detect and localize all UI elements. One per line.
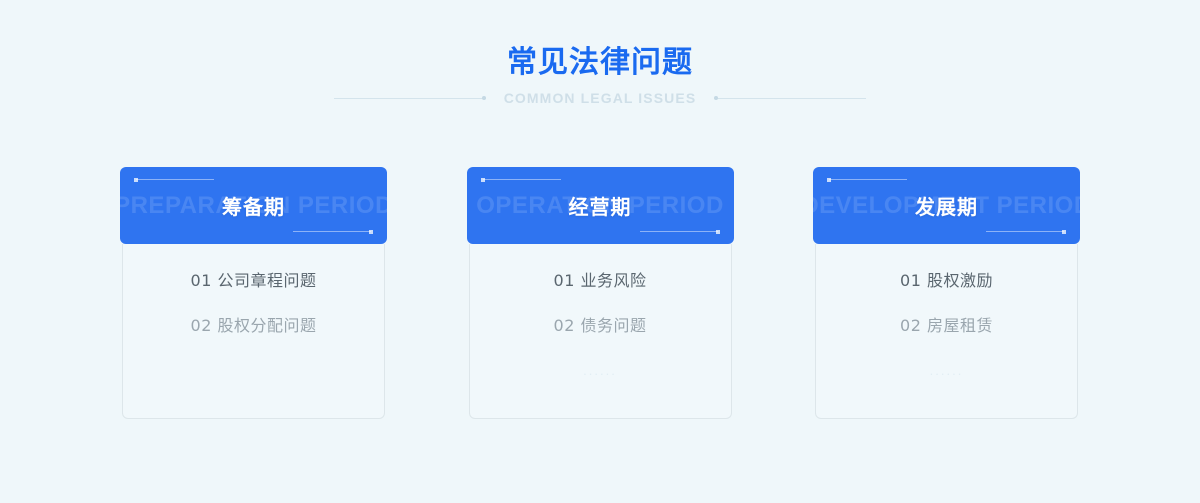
list-item[interactable]: 02 股权分配问题 [123,315,384,337]
card-list: PREPARATION PERIOD 筹备期 01 公司章程问题 02 股权分配… [120,167,1080,419]
card-title: 经营期 [467,167,734,244]
decorative-rule-left [334,94,486,103]
section-heading: 常见法律问题 COMMON LEGAL ISSUES [0,42,1200,107]
card-body: 01 公司章程问题 02 股权分配问题 [122,244,385,419]
rule-dot-right-icon [714,96,718,100]
card-body: 01 股权激励 02 房屋租赁 ...... [815,244,1078,419]
list-item[interactable]: 01 股权激励 [816,270,1077,292]
subtitle-row: COMMON LEGAL ISSUES [0,89,1200,107]
list-item-more: ...... [816,363,1077,379]
list-item-more: ...... [470,363,731,379]
card-title: 筹备期 [120,167,387,244]
decorative-rule-right [714,94,866,103]
stage-card-development[interactable]: DEVELOPMENT PERIOD 发展期 01 股权激励 02 房屋租赁 .… [813,167,1080,419]
card-header: OPERATION PERIOD 经营期 [467,167,734,244]
page-root: 常见法律问题 COMMON LEGAL ISSUES PREPARATION P… [0,0,1200,503]
stage-card-operation[interactable]: OPERATION PERIOD 经营期 01 业务风险 02 债务问题 ...… [467,167,734,419]
list-item[interactable]: 02 债务问题 [470,315,731,337]
card-title: 发展期 [813,167,1080,244]
card-body: 01 业务风险 02 债务问题 ...... [469,244,732,419]
list-item-more [123,363,384,379]
page-title: 常见法律问题 [0,42,1200,84]
list-item[interactable]: 01 公司章程问题 [123,270,384,292]
card-header: PREPARATION PERIOD 筹备期 [120,167,387,244]
card-header: DEVELOPMENT PERIOD 发展期 [813,167,1080,244]
list-item[interactable]: 02 房屋租赁 [816,315,1077,337]
rule-dot-left-icon [482,96,486,100]
list-item[interactable]: 01 业务风险 [470,270,731,292]
page-subtitle: COMMON LEGAL ISSUES [486,89,715,107]
stage-card-preparation[interactable]: PREPARATION PERIOD 筹备期 01 公司章程问题 02 股权分配… [120,167,387,419]
